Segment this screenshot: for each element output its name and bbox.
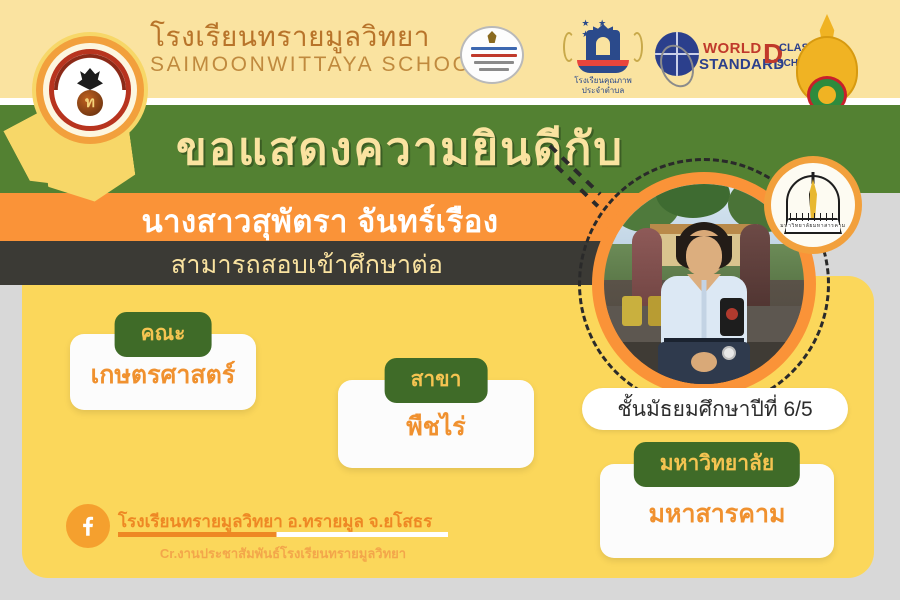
student-level-badge: ชั้นมัธยมศึกษาปีที่ 6/5 [582,388,848,430]
seal-monogram-icon [77,90,103,116]
university-emblem-badge: มหาวิทยาลัยมหาสารคาม [764,156,862,254]
faculty-card: เกษตรศาสตร์ คณะ [70,312,256,410]
major-card-tab: สาขา [385,358,488,403]
subtitle-text: สามารถสอบเข้าศึกษาต่อ [0,245,614,285]
major-card: พืชไร่ สาขา [338,358,534,468]
quality-school-caption: โรงเรียนคุณภาพ ประจำตำบล [560,76,646,96]
university-card: มหาสารคาม มหาวิทยาลัย [600,442,834,558]
school-name-block: โรงเรียนทรายมูลวิทยา SAIMOONWITTAYA SCHO… [150,22,486,78]
university-card-tab: มหาวิทยาลัย [634,442,800,487]
crest-icon [488,31,497,43]
royal-emblem-logo [790,14,864,110]
major-label: สาขา [411,368,462,391]
school-seal-ribbon [26,28,156,208]
footer-divider [118,532,448,537]
school-seal [36,36,144,144]
seal-crest-icon [77,68,103,90]
major-value: พืชไร่ [406,401,465,447]
facebook-icon[interactable] [66,504,110,548]
faculty-card-tab: คณะ [115,312,212,357]
student-level-text: ชั้นมัธยมศึกษาปีที่ 6/5 [617,393,812,426]
wreath-right-icon [631,32,643,62]
facebook-page-name[interactable]: โรงเรียนทรายมูลวิทยา อ.ทรายมูล จ.ยโสธร [118,508,432,535]
university-badge-text: มหาวิทยาลัยมหาสารคาม [780,222,845,230]
shield-icon [586,30,620,62]
university-value: มหาสารคาม [649,488,786,534]
wcs-word-world: WORLD [703,40,762,57]
quality-school-logo: ★ ★ ★ โรงเรียนคุณภาพ ประจำตำบล [560,18,646,102]
congratulations-poster: โรงเรียนทรายมูลวิทยา SAIMOONWITTAYA SCHO… [0,0,900,600]
base-lines-icon [790,213,836,221]
university-label: มหาวิทยาลัย [660,452,774,475]
book-icon [577,60,629,73]
footer-credit: Cr.งานประชาสัมพันธ์โรงเรียนทรายมูลวิทยา [118,543,448,564]
wreath-left-icon [563,32,575,62]
emblem-body [796,36,858,104]
faculty-label: คณะ [141,322,186,345]
accreditation-logo [460,26,524,84]
school-name-thai: โรงเรียนทรายมูลวิทยา [150,22,486,52]
school-name-english: SAIMOONWITTAYA SCHOOL [150,52,486,78]
